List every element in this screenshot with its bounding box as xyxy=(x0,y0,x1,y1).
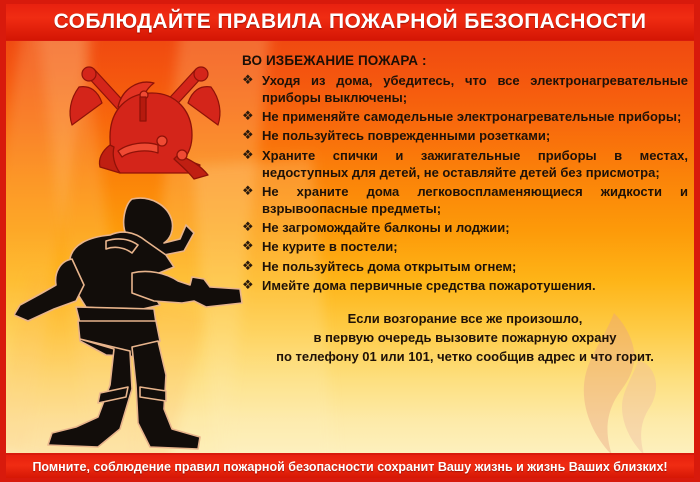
diamond-bullet-icon: ❖ xyxy=(242,237,254,254)
diamond-bullet-icon: ❖ xyxy=(242,107,254,124)
list-item: ❖ Не курите в постели; xyxy=(242,238,688,255)
list-item: ❖ Не загромождайте балконы и лоджии; xyxy=(242,219,688,236)
list-item: ❖ Не пользуйтесь дома открытым огнем; xyxy=(242,258,688,275)
list-item-text: Не храните дома легковоспламеняющиеся жи… xyxy=(262,184,688,216)
firefighter-with-hose-silhouette xyxy=(14,189,244,453)
diamond-bullet-icon: ❖ xyxy=(242,126,254,143)
content-column: ВО ИЗБЕЖАНИЕ ПОЖАРА : ❖ Уходя из дома, у… xyxy=(242,53,688,366)
list-item: ❖ Храните спички и зажигательные приборы… xyxy=(242,147,688,181)
list-item: ❖ Не применяйте самодельные электронагре… xyxy=(242,108,688,125)
diamond-bullet-icon: ❖ xyxy=(242,182,254,199)
list-item-text: Не загромождайте балконы и лоджии; xyxy=(262,220,510,235)
list-item-text: Уходя из дома, убедитесь, что все электр… xyxy=(262,73,688,105)
emergency-instructions: Если возгорание все же произошло, в перв… xyxy=(242,310,688,367)
diamond-bullet-icon: ❖ xyxy=(242,71,254,88)
poster-body: ВО ИЗБЕЖАНИЕ ПОЖАРА : ❖ Уходя из дома, у… xyxy=(6,41,694,453)
list-item: ❖ Не храните дома легковоспламеняющиеся … xyxy=(242,183,688,217)
list-item-text: Не курите в постели; xyxy=(262,239,398,254)
diamond-bullet-icon: ❖ xyxy=(242,146,254,163)
list-item-text: Не пользуйтесь поврежденными розетками; xyxy=(262,128,550,143)
list-item: ❖ Уходя из дома, убедитесь, что все элек… xyxy=(242,72,688,106)
emergency-line: по телефону 01 или 101, четко сообщив ад… xyxy=(242,348,688,367)
list-item: ❖ Не пользуйтесь поврежденными розетками… xyxy=(242,127,688,144)
list-item-text: Не применяйте самодельные электронагрева… xyxy=(262,109,681,124)
list-item-text: Храните спички и зажигательные приборы в… xyxy=(262,148,688,180)
fire-safety-poster: СОБЛЮДАЙТЕ ПРАВИЛА ПОЖАРНОЙ БЕЗОПАСНОСТИ xyxy=(0,0,700,482)
diamond-bullet-icon: ❖ xyxy=(242,276,254,293)
list-item-text: Не пользуйтесь дома открытым огнем; xyxy=(262,259,516,274)
diamond-bullet-icon: ❖ xyxy=(242,218,254,235)
footer-text: Помните, соблюдение правил пожарной безо… xyxy=(32,460,667,474)
emergency-line: в первую очередь вызовите пожарную охран… xyxy=(242,329,688,348)
title-banner: СОБЛЮДАЙТЕ ПРАВИЛА ПОЖАРНОЙ БЕЗОПАСНОСТИ xyxy=(6,4,694,40)
fire-safety-rules-list: ❖ Уходя из дома, убедитесь, что все элек… xyxy=(242,72,688,294)
list-item-text: Имейте дома первичные средства пожаротуш… xyxy=(262,278,596,293)
footer-banner: Помните, соблюдение правил пожарной безо… xyxy=(6,455,694,478)
section-heading: ВО ИЗБЕЖАНИЕ ПОЖАРА : xyxy=(242,53,688,68)
list-item: ❖ Имейте дома первичные средства пожарот… xyxy=(242,277,688,294)
emergency-line: Если возгорание все же произошло, xyxy=(242,310,688,329)
diamond-bullet-icon: ❖ xyxy=(242,257,254,274)
fire-helmet-crossed-axes-icon xyxy=(58,59,233,189)
page-title: СОБЛЮДАЙТЕ ПРАВИЛА ПОЖАРНОЙ БЕЗОПАСНОСТИ xyxy=(54,10,647,34)
